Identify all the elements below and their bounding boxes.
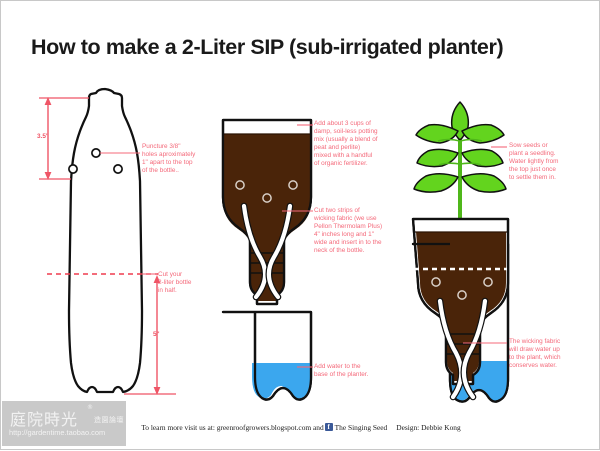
puncture-hole [114,165,122,173]
bottle-cut-diagram [219,120,315,408]
note-puncture-holes: Puncture 3/8" holes aproximately 1" apar… [142,143,222,175]
water-fill-middle [219,363,315,408]
note-add-water: Add water to the base of the planter. [314,363,394,379]
infographic-page: How to make a 2-Liter SIP (sub-irrigated… [0,0,600,450]
facebook-icon[interactable]: f [325,423,333,431]
plant-branch [439,163,460,165]
plant-branch [460,163,481,165]
note-sow-seeds: Sow seeds or plant a seedling. Water lig… [509,142,595,182]
note-wicking-fabric: Cut two strips of wicking fabric (we use… [314,207,404,256]
bottle-whole-diagram [39,89,176,395]
puncture-hole [69,165,77,173]
note-cut-in-half: Cut your 2-liter bottle in half. [158,271,218,295]
watermark: 庭院時光 ® 造園論壇 http://gardentime.taobao.com [2,401,126,446]
footer-lead-text: To learn more visit us at: greenroofgrow… [141,423,323,432]
footer-page-name: The Singing Seed [335,423,388,432]
note-fabric-draws-water: The wicking fabric will draw water up to… [509,338,597,370]
diagram-artwork [1,1,600,451]
dimension-label-bottom: 5" [153,331,160,338]
watermark-name: 庭院時光 [10,406,78,430]
puncture-hole [92,149,100,157]
note-add-soil: Add about 3 cups of damp, soil-less pott… [314,120,402,169]
watermark-forum: 造園論壇 [94,415,124,425]
watermark-registered-icon: ® [87,404,93,411]
plant-leaf [462,174,506,192]
planter-assembled-diagram [409,102,513,409]
dimension-label-top: 3.5" [37,133,49,140]
plant-leaf [414,174,458,192]
watermark-url: http://gardentime.taobao.com [9,428,105,437]
footer-design-credit: Design: Debbie Kong [396,423,460,432]
bottle-whole-outline [69,89,142,392]
